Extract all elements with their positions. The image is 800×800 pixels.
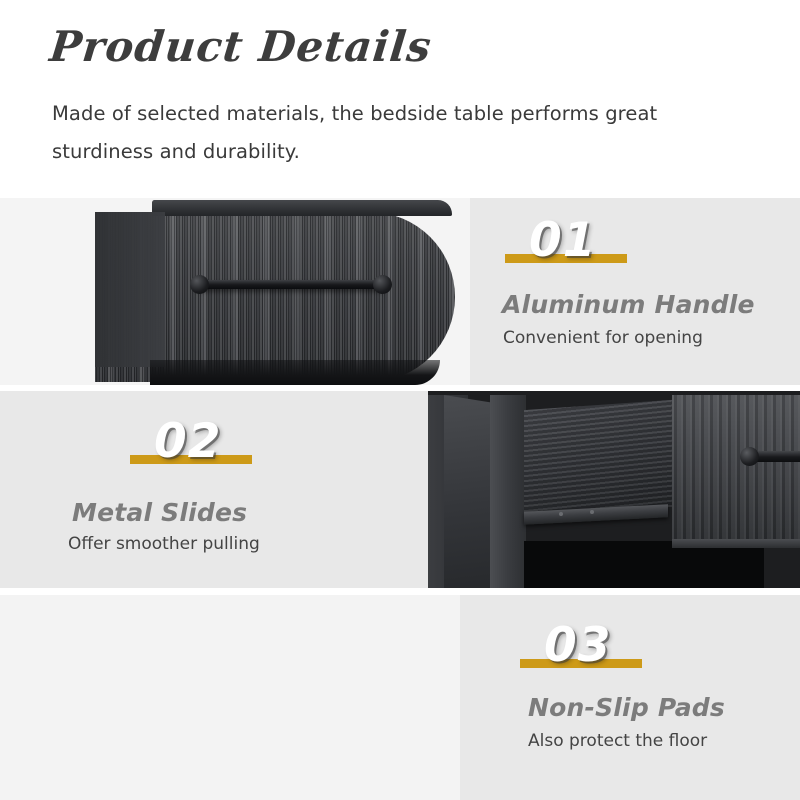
feature-number: 02: [154, 413, 221, 470]
product-details-infographic: Product Details Made of selected materia…: [0, 0, 800, 800]
feature-panel-01: 01 Aluminum Handle Convenient for openin…: [0, 198, 800, 385]
slide-rail-screw: [559, 512, 563, 516]
page-title: Product Details: [47, 22, 434, 71]
slide-rail-screw: [590, 510, 594, 514]
feature-number-block-01: 01: [505, 212, 596, 269]
feature-title: Aluminum Handle: [502, 290, 755, 319]
drawer-top-edge: [152, 200, 452, 216]
feature-title: Metal Slides: [72, 498, 247, 527]
feature-subtitle: Convenient for opening: [503, 328, 703, 348]
drawer-under-shadow: [150, 360, 440, 385]
cabinet-diagonal-board: [444, 395, 496, 588]
feature-number: 01: [529, 212, 596, 269]
feature-subtitle: Also protect the floor: [528, 731, 707, 751]
feature-panel-03: 03 Non-Slip Pads Also protect the floor: [0, 595, 800, 800]
feature-number-block-03: 03: [520, 617, 611, 674]
open-drawer-box: [524, 400, 672, 517]
feature-title: Non-Slip Pads: [528, 693, 725, 722]
header-section: Product Details Made of selected materia…: [0, 0, 800, 192]
feature-text-02: 02 Metal Slides Offer smoother pulling: [0, 391, 428, 588]
cabinet-side-lip: [95, 212, 165, 367]
photo-backdrop: [0, 595, 460, 800]
feature-image-01: [0, 198, 470, 385]
handle-knob-left: [190, 275, 209, 294]
feature-text-01: 01 Aluminum Handle Convenient for openin…: [470, 198, 800, 385]
handle-knob: [740, 447, 759, 466]
cabinet-shadow-cavity: [524, 541, 764, 588]
cabinet-lower-ledge: [672, 539, 800, 548]
feature-subtitle: Offer smoother pulling: [68, 534, 260, 554]
feature-text-03: 03 Non-Slip Pads Also protect the floor: [460, 595, 800, 800]
aluminum-bar-handle: [196, 280, 386, 289]
page-subtitle: Made of selected materials, the bedside …: [52, 95, 752, 171]
feature-image-02: [428, 391, 800, 588]
feature-number: 03: [544, 617, 611, 674]
feature-image-03: [0, 595, 460, 800]
feature-panel-02: 02 Metal Slides Offer smoother pulling: [0, 391, 800, 588]
drawer-front-right: [672, 395, 800, 543]
feature-number-block-02: 02: [130, 413, 221, 470]
handle-knob-right: [373, 275, 392, 294]
cabinet-front-post: [490, 395, 526, 588]
